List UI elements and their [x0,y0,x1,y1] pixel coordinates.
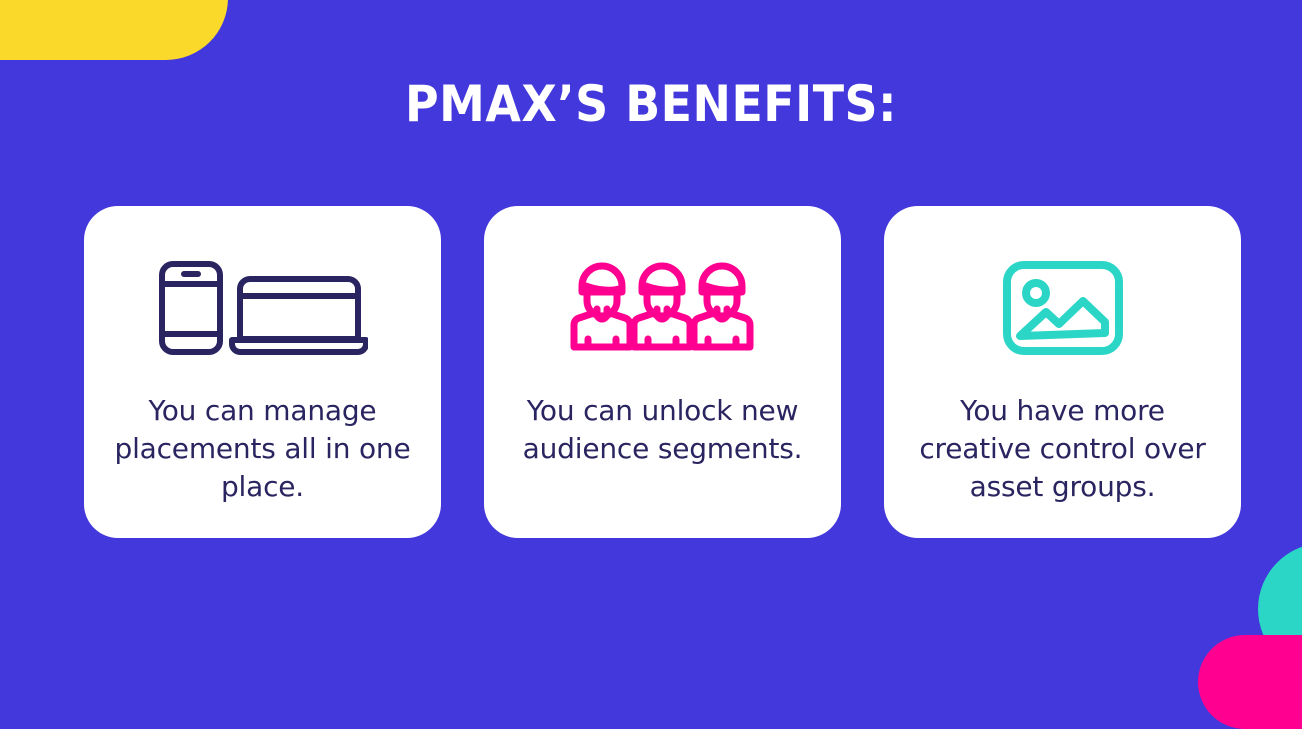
slide-canvas: PMAX’S BENEFITS: You can manage placemen… [0,0,1302,729]
benefit-card-text: You can manage placements all in one pla… [113,392,413,506]
page-title: PMAX’S BENEFITS: [0,74,1302,134]
benefit-card-text: You can unlock new audience segments. [513,392,813,468]
image-picture-icon [1002,254,1124,362]
benefit-card: You can manage placements all in one pla… [84,206,441,538]
benefit-card-list: You can manage placements all in one pla… [84,206,1241,538]
benefit-card-text: You have more creative control over asse… [913,392,1213,506]
people-group-icon [570,254,756,362]
devices-phone-laptop-icon [158,254,368,362]
pink-rounded-shape [1198,635,1302,729]
yellow-corner-shape [0,0,228,60]
benefit-card: You can unlock new audience segments. [484,206,841,538]
benefit-card: You have more creative control over asse… [884,206,1241,538]
